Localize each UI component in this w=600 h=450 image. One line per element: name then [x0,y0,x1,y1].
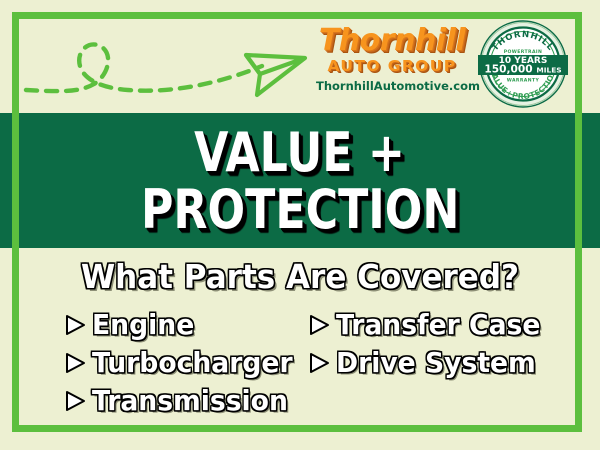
logo-subtitle: AUTO GROUP [316,57,468,75]
list-item: Transfer Case [306,306,556,344]
warranty-badge: THORNHILL VALUE+PROTECTION POWERTRAIN WA… [477,18,569,110]
covered-parts-columns: Engine Turbocharger Transmission [0,306,600,420]
list-item: Drive System [306,344,556,382]
dashed-loop-arrow-path [18,22,308,108]
list-item: Turbocharger [62,344,302,382]
list-item-label: Engine [92,309,194,341]
headline-line-2: PROTECTION [141,181,460,238]
badge-miles-text: 150,000 MILES [484,63,561,75]
covered-parts-column-right: Transfer Case Drive System [306,306,556,420]
headline-line-1: VALUE + [195,124,406,181]
list-item-label: Transmission [92,385,288,417]
headline-banner: VALUE + PROTECTION [0,113,600,248]
badge-warranty-label: WARRANTY [507,78,540,84]
logo-website-url: ThornhillAutomotive.com [316,79,468,93]
poster-root: Thornhill AUTO GROUP ThornhillAutomotive… [0,0,600,450]
list-item: Transmission [62,382,302,420]
list-item-label: Drive System [336,347,536,379]
section-subheading: What Parts Are Covered? [18,258,582,296]
triangle-bullet-icon [306,312,332,338]
paper-plane-icon [246,55,305,95]
list-item: Engine [62,306,302,344]
triangle-bullet-icon [62,388,88,414]
list-item-label: Turbocharger [92,347,293,379]
logo-wordmark: Thornhill [316,26,468,56]
triangle-bullet-icon [62,312,88,338]
list-item-label: Transfer Case [336,309,540,341]
badge-powertrain-label: POWERTRAIN [504,49,543,55]
triangle-bullet-icon [306,350,332,376]
covered-parts-column-left: Engine Turbocharger Transmission [62,306,302,420]
covered-parts-section: What Parts Are Covered? Engine Turbochar… [0,248,600,450]
thornhill-logo: Thornhill AUTO GROUP ThornhillAutomotive… [316,26,468,102]
triangle-bullet-icon [62,350,88,376]
